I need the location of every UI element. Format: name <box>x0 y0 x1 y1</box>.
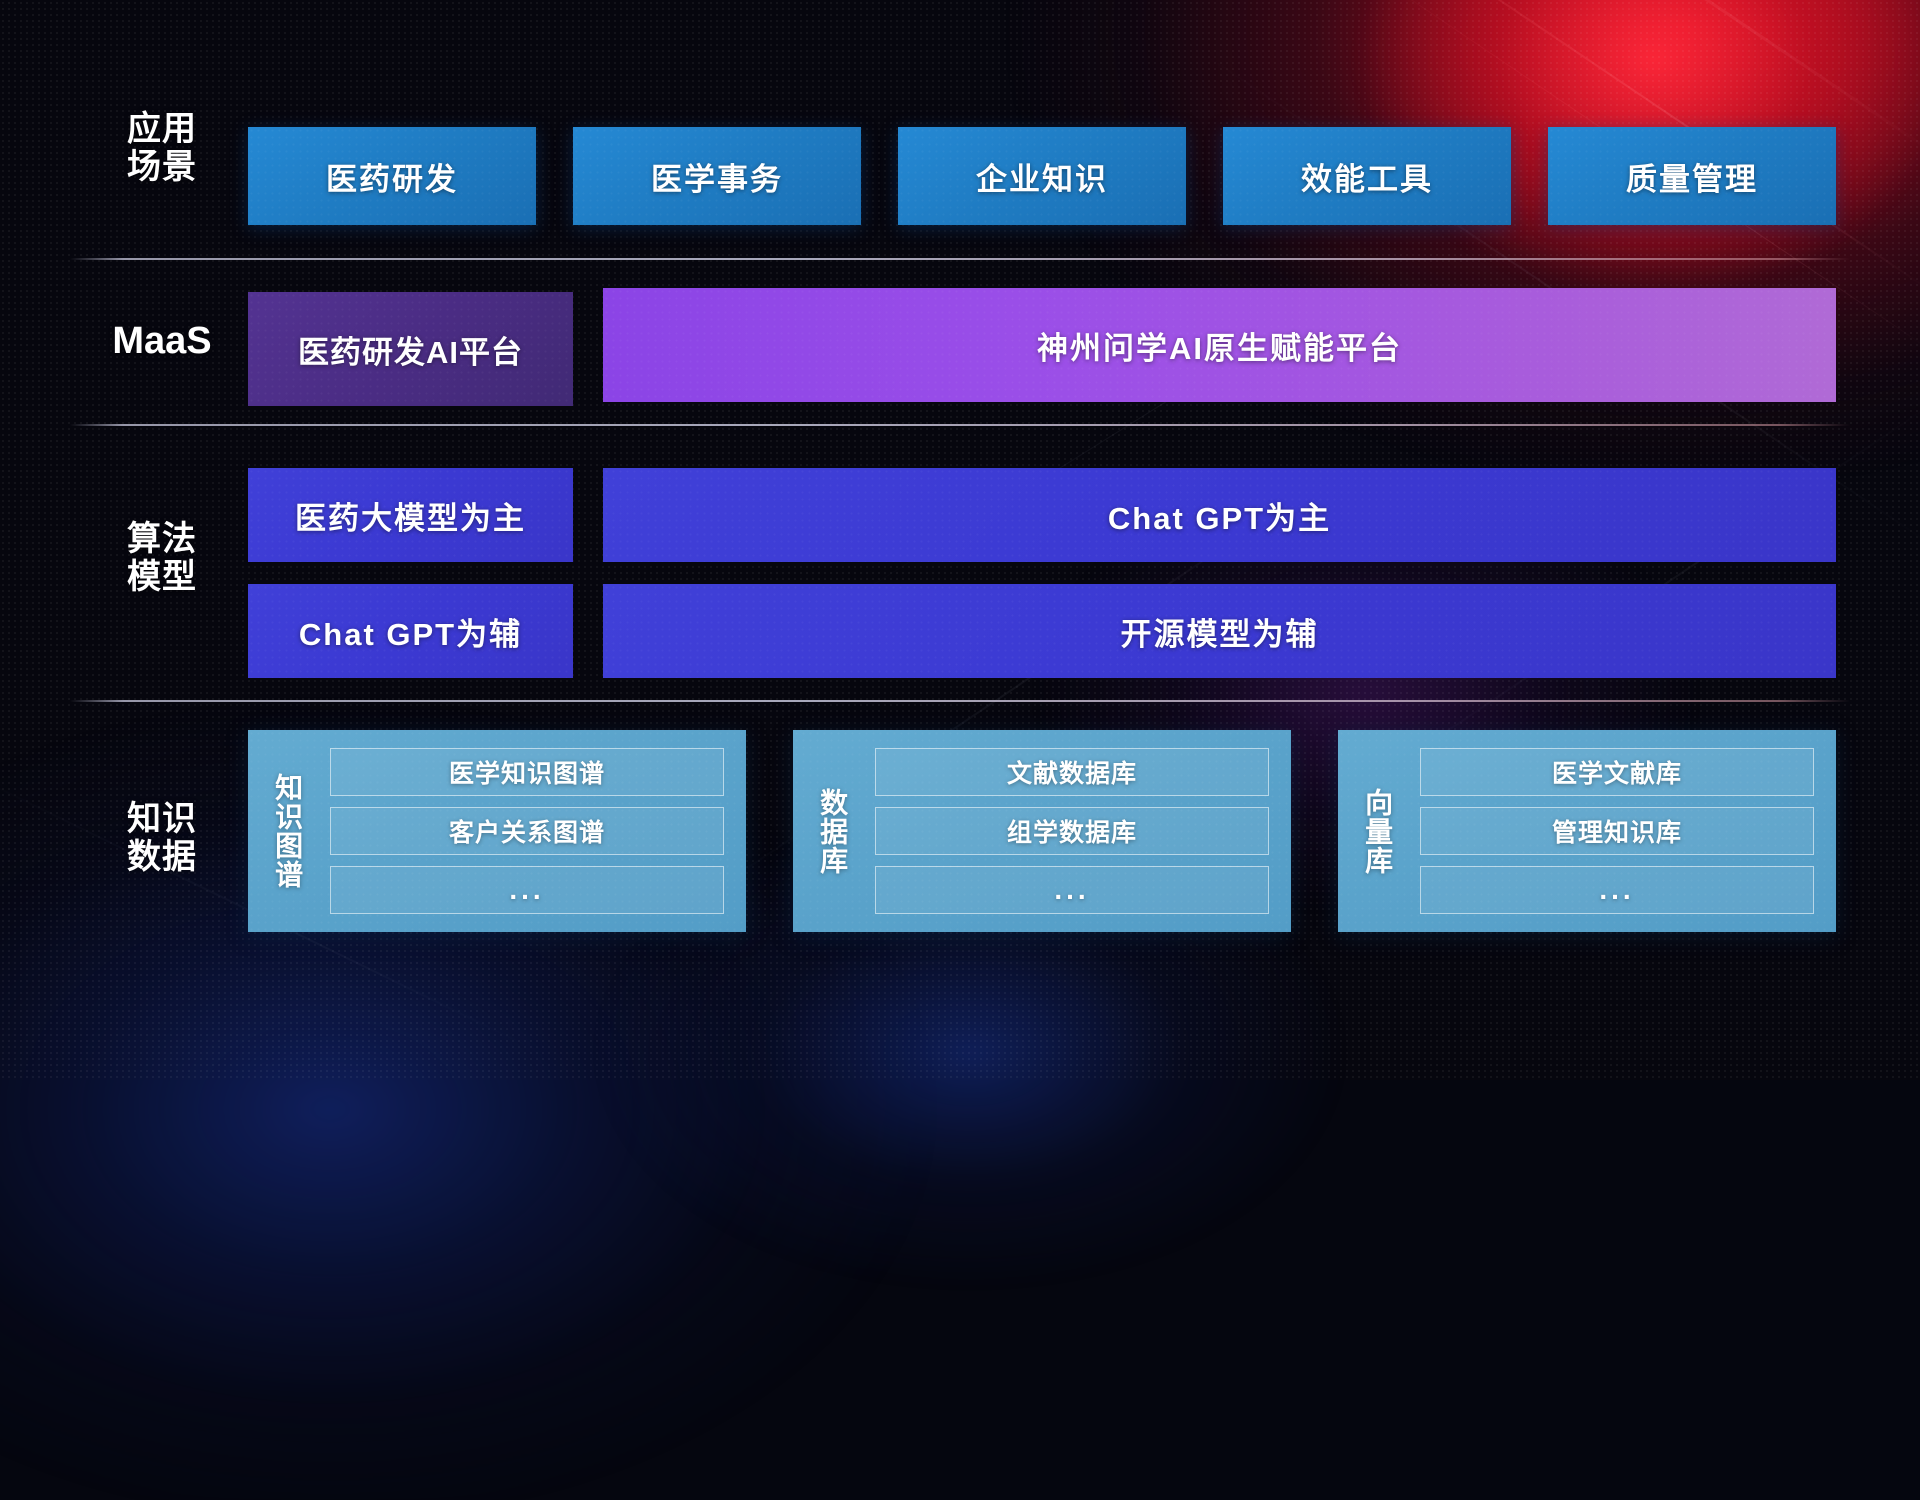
maas-card-label-wide: 神州问学AI原生赋能平台 <box>1037 323 1402 368</box>
row-label-line1: 知识 <box>127 800 197 838</box>
knowledge-item-0-2[interactable]: ... <box>330 866 724 914</box>
algo-card-left-1[interactable]: Chat GPT为辅 <box>248 584 573 678</box>
maas-card-label-small: 医药研发AI平台 <box>298 327 523 372</box>
knowledge-item-2-2[interactable]: ... <box>1420 866 1814 914</box>
app-card-2[interactable]: 企业知识 <box>898 127 1186 225</box>
app-card-label-1: 医学事务 <box>651 154 783 199</box>
knowledge-item-1-0[interactable]: 文献数据库 <box>875 748 1269 796</box>
algo-card-label-left-0: 医药大模型为主 <box>295 493 526 538</box>
divider-1 <box>70 258 1850 260</box>
knowledge-panel-side-label-0: 知识图谱 <box>248 730 326 932</box>
knowledge-item-2-0[interactable]: 医学文献库 <box>1420 748 1814 796</box>
knowledge-item-1-2[interactable]: ... <box>875 866 1269 914</box>
row-label-line1: 应用 <box>127 110 197 148</box>
row-label-line2: 模型 <box>96 558 228 596</box>
app-card-label-0: 医药研发 <box>326 154 458 199</box>
knowledge-panel-database[interactable]: 数据库 文献数据库 组学数据库 ... <box>793 730 1291 932</box>
knowledge-panel-items-1: 文献数据库 组学数据库 ... <box>871 730 1291 932</box>
algo-card-left-0[interactable]: 医药大模型为主 <box>248 468 573 562</box>
knowledge-panel-side-label-1: 数据库 <box>793 730 871 932</box>
knowledge-item-0-1[interactable]: 客户关系图谱 <box>330 807 724 855</box>
app-card-3[interactable]: 效能工具 <box>1223 127 1511 225</box>
app-card-label-2: 企业知识 <box>976 154 1108 199</box>
maas-card-shenzhou-platform[interactable]: 神州问学AI原生赋能平台 <box>603 288 1836 402</box>
app-card-4[interactable]: 质量管理 <box>1548 127 1836 225</box>
row-label-line2: 数据 <box>96 838 228 876</box>
knowledge-panel-vector-store[interactable]: 向量库 医学文献库 管理知识库 ... <box>1338 730 1836 932</box>
algo-card-right-1[interactable]: 开源模型为辅 <box>603 584 1836 678</box>
knowledge-panel-knowledge-graph[interactable]: 知识图谱 医学知识图谱 客户关系图谱 ... <box>248 730 746 932</box>
knowledge-item-0-0[interactable]: 医学知识图谱 <box>330 748 724 796</box>
row-label-knowledge-data: 知识 数据 <box>96 800 228 876</box>
architecture-diagram: 应用 场景 医药研发 医学事务 企业知识 效能工具 质量管理 MaaS <box>0 0 1920 1080</box>
app-card-1[interactable]: 医学事务 <box>573 127 861 225</box>
knowledge-panel-items-0: 医学知识图谱 客户关系图谱 ... <box>326 730 746 932</box>
divider-3 <box>70 700 1850 702</box>
algo-card-right-0[interactable]: Chat GPT为主 <box>603 468 1836 562</box>
row-label-maas: MaaS <box>96 320 228 363</box>
row-label-algorithm-model: 算法 模型 <box>96 520 228 596</box>
row-label-line2: 场景 <box>96 148 228 186</box>
algo-card-label-right-0: Chat GPT为主 <box>1108 493 1331 538</box>
row-label-application-scenarios: 应用 场景 <box>96 110 228 186</box>
app-card-label-3: 效能工具 <box>1301 154 1433 199</box>
knowledge-item-1-1[interactable]: 组学数据库 <box>875 807 1269 855</box>
knowledge-item-2-1[interactable]: 管理知识库 <box>1420 807 1814 855</box>
row-label-line1: MaaS <box>112 320 211 362</box>
app-card-0[interactable]: 医药研发 <box>248 127 536 225</box>
knowledge-panel-items-2: 医学文献库 管理知识库 ... <box>1416 730 1836 932</box>
row-label-line1: 算法 <box>127 520 197 558</box>
algo-card-label-right-1: 开源模型为辅 <box>1121 609 1319 654</box>
divider-2 <box>70 424 1850 426</box>
knowledge-panel-side-label-2: 向量库 <box>1338 730 1416 932</box>
app-card-label-4: 质量管理 <box>1626 154 1758 199</box>
maas-card-pharma-ai-platform[interactable]: 医药研发AI平台 <box>248 292 573 406</box>
algo-card-label-left-1: Chat GPT为辅 <box>299 609 522 654</box>
